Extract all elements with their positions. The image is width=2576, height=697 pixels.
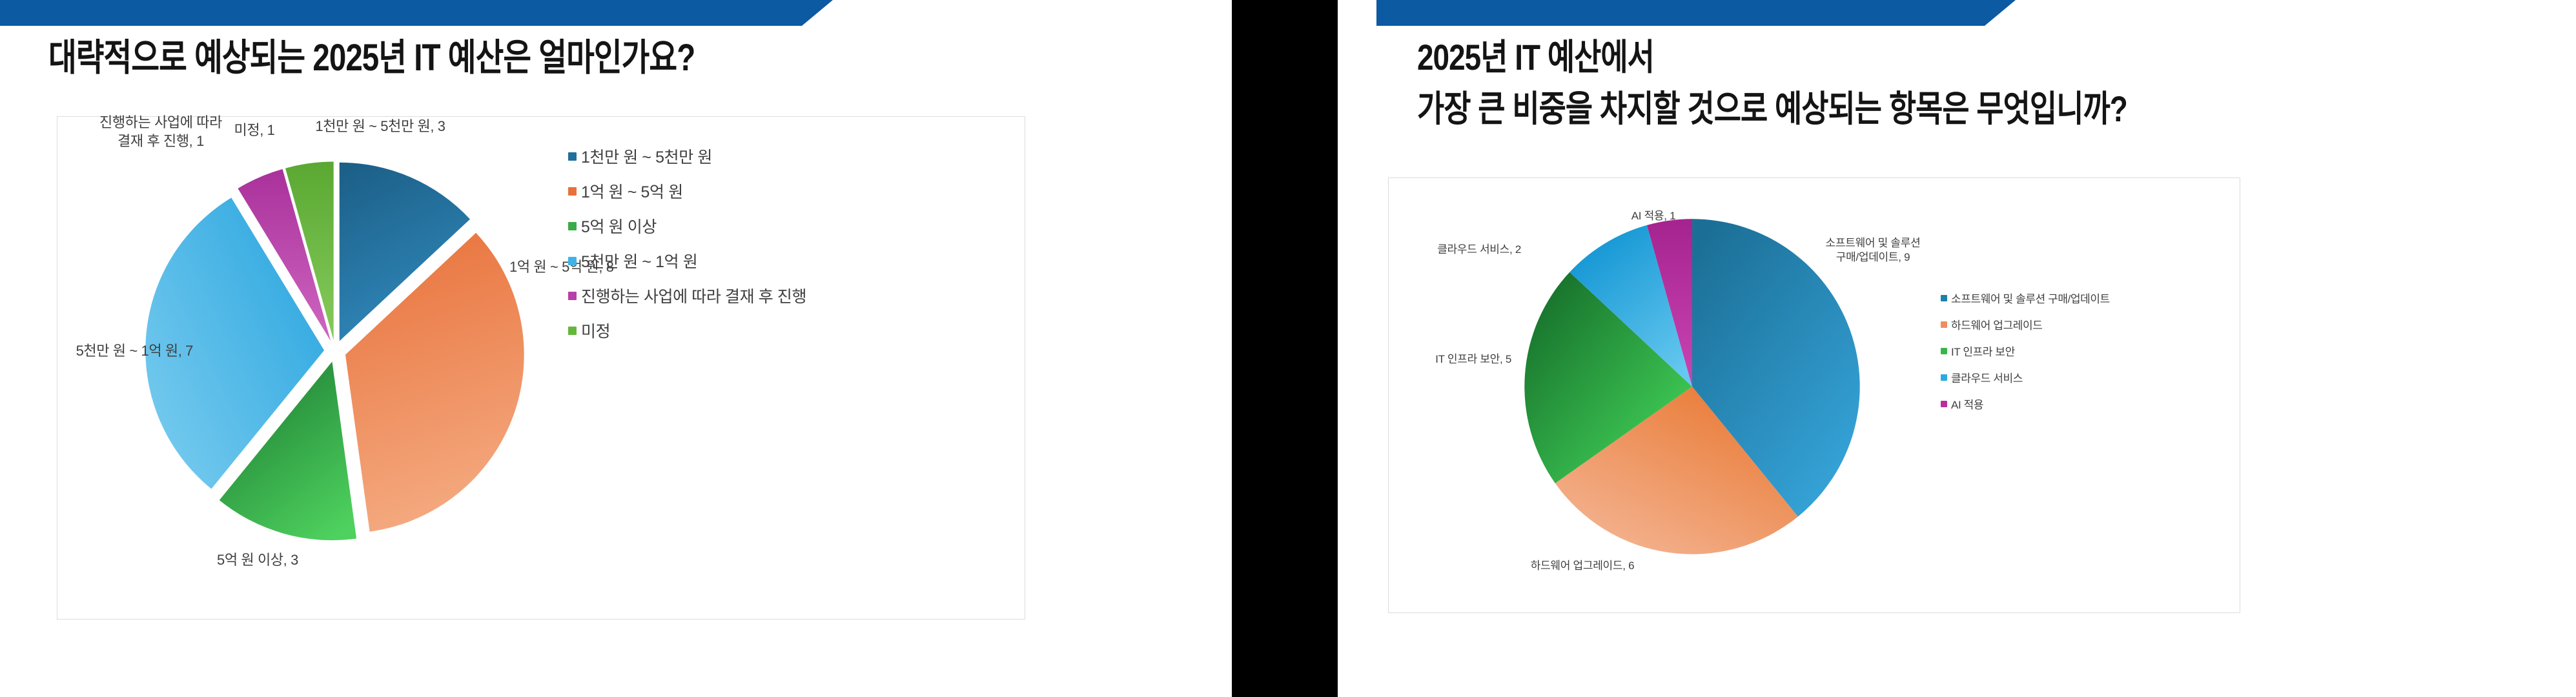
legend-item-label: 5천만 원 ~ 1억 원	[581, 249, 697, 272]
page-title: 대략적으로 예상되는 2025년 IT 예산은 얼마인가요?	[48, 35, 695, 81]
pie-label-4: 클라우드 서비스, 2	[1373, 243, 1521, 257]
legend-swatch-icon	[568, 327, 577, 335]
legend-swatch-icon	[568, 257, 577, 265]
legend-item[interactable]: 하드웨어 업그레이드	[1941, 311, 2110, 338]
chart-container-allocation: 소프트웨어 및 솔루션 구매/업데이트, 9 하드웨어 업그레이드, 6 IT …	[1388, 177, 2240, 613]
chart-legend-allocation: 소프트웨어 및 솔루션 구매/업데이트 하드웨어 업그레이드 IT 인프라 보안…	[1941, 285, 2110, 417]
pie-label-1: 1천만 원 ~ 5천만 원, 3	[271, 117, 490, 136]
legend-item[interactable]: 1천만 원 ~ 5천만 원	[568, 139, 806, 174]
pie-chart-allocation	[1521, 216, 1863, 558]
legend-swatch-icon	[568, 222, 577, 230]
legend-item[interactable]: IT 인프라 보안	[1941, 338, 2110, 364]
legend-item-label: 미정	[581, 319, 610, 342]
legend-item[interactable]: 클라우드 서비스	[1941, 364, 2110, 390]
pie-label-1: 소프트웨어 및 솔루션 구매/업데이트, 9	[1776, 236, 1970, 265]
slide-deck: 대략적으로 예상되는 2025년 IT 예산은 얼마인가요?	[0, 0, 2576, 697]
legend-item-label: 소프트웨어 및 솔루션 구매/업데이트	[1951, 290, 2110, 306]
legend-swatch-icon	[1941, 321, 1947, 328]
pie-label-4: 5천만 원 ~ 1억 원, 7	[6, 341, 193, 360]
legend-item-label: 5억 원 이상	[581, 214, 657, 237]
legend-item-label: 1억 원 ~ 5억 원	[581, 179, 683, 203]
legend-swatch-icon	[1941, 374, 1947, 381]
legend-swatch-icon	[568, 292, 577, 300]
page-title-line-2: 가장 큰 비중을 차지할 것으로 예상되는 항목은 무엇입니까?	[1417, 87, 2127, 131]
legend-swatch-icon	[1941, 348, 1947, 354]
legend-item[interactable]: AI 적용	[1941, 390, 2110, 417]
legend-swatch-icon	[568, 152, 577, 161]
legend-item[interactable]: 5억 원 이상	[568, 208, 806, 243]
pie-chart-budget	[138, 154, 532, 548]
legend-item-label: 클라우드 서비스	[1951, 369, 2023, 385]
page-title-line-1: 2025년 IT 예산에서	[1417, 35, 2127, 79]
legend-swatch-icon	[1941, 295, 1947, 301]
legend-item[interactable]: 1억 원 ~ 5억 원	[568, 174, 806, 208]
legend-swatch-icon	[1941, 401, 1947, 407]
top-banner-accent	[0, 0, 833, 26]
pie-label-6: 미정, 1	[212, 121, 296, 139]
pie-label-2: 하드웨어 업그레이드, 6	[1476, 559, 1689, 573]
pie-label-5: AI 적용, 1	[1608, 209, 1699, 223]
chart-legend-budget: 1천만 원 ~ 5천만 원 1억 원 ~ 5억 원 5억 원 이상 5천만 원 …	[568, 139, 806, 348]
legend-item-label: 하드웨어 업그레이드	[1951, 316, 2042, 332]
legend-item-label: IT 인프라 보안	[1951, 343, 2015, 359]
legend-item[interactable]: 진행하는 사업에 따라 결재 후 진행	[568, 278, 806, 313]
legend-item[interactable]: 5천만 원 ~ 1억 원	[568, 243, 806, 278]
chart-container-budget: 1천만 원 ~ 5천만 원, 3 1억 원 ~ 5억 원, 8 5억 원 이상,…	[57, 116, 1025, 620]
legend-item-label: AI 적용	[1951, 396, 1983, 412]
pie-label-3: 5억 원 이상, 3	[164, 551, 351, 569]
slide-left: 대략적으로 예상되는 2025년 IT 예산은 얼마인가요?	[0, 0, 1232, 697]
slide-divider	[1232, 0, 1338, 697]
page-title: 2025년 IT 예산에서 가장 큰 비중을 차지할 것으로 예상되는 항목은 …	[1417, 35, 2127, 132]
legend-item-label: 1천만 원 ~ 5천만 원	[581, 145, 712, 168]
legend-item-label: 진행하는 사업에 따라 결재 후 진행	[581, 284, 806, 307]
legend-item[interactable]: 미정	[568, 313, 806, 348]
top-banner-accent	[1376, 0, 2016, 26]
legend-item[interactable]: 소프트웨어 및 솔루션 구매/업데이트	[1941, 285, 2110, 311]
pie-label-3: IT 인프라 보안, 5	[1363, 352, 1511, 367]
legend-swatch-icon	[568, 187, 577, 196]
